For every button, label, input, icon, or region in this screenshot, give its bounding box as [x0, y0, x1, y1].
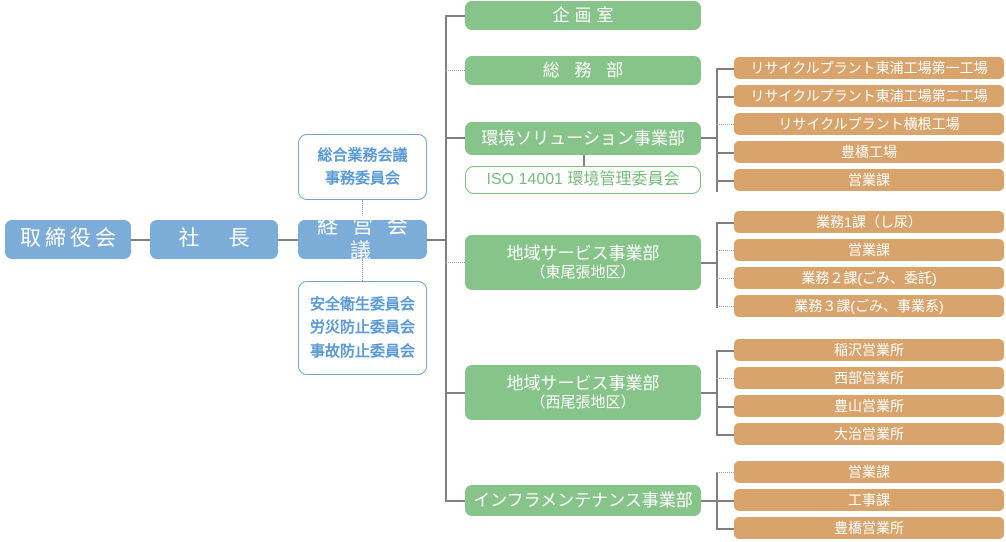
- node-east-operations-1[interactable]: 業務1課（し尿）: [734, 211, 1004, 233]
- node-environment-solution-label: 環境ソリューション事業部: [481, 129, 685, 149]
- node-board-label: 取締役会: [16, 227, 120, 251]
- org-chart: 取締役会 社 長 経 営 会 議 総合業務会議 事務委員会 安全衛生委員会 労災…: [0, 0, 1006, 542]
- node-infra-sales-section[interactable]: 営業課: [734, 461, 1004, 483]
- leaf-label: リサイクルプラント東浦工場第二工場: [750, 88, 987, 104]
- connector-west-subtrunk: [701, 392, 716, 394]
- node-regional-service-west-label: 地域サービス事業部: [507, 374, 660, 394]
- node-east-operations-3[interactable]: 業務３課(ごみ、事業系): [734, 295, 1004, 317]
- committee-group-upper[interactable]: 総合業務会議 事務委員会: [298, 134, 427, 200]
- node-regional-service-east-sublabel: （東尾張地区）: [530, 264, 635, 281]
- branch-planning: [445, 15, 465, 17]
- subtrunk-env: [716, 68, 718, 192]
- leaf-label: 豊山営業所: [834, 398, 904, 414]
- trunk-vertical-divisions: [445, 15, 447, 500]
- leaf-branch-env-2: [716, 96, 734, 98]
- node-toyohashi-plant[interactable]: 豊橋工場: [734, 141, 1004, 163]
- node-recycle-higashiura-plant-1[interactable]: リサイクルプラント東浦工場第一工場: [734, 57, 1004, 79]
- leaf-label: 大治営業所: [834, 426, 904, 442]
- leaf-branch-west-2: [716, 378, 734, 379]
- leaf-branch-west-1: [716, 350, 734, 352]
- node-infra-maintenance-label: インフラメンテナンス事業部: [473, 491, 693, 511]
- leaf-label: 営業課: [848, 172, 890, 188]
- node-management-meeting-label: 経 営 会 議: [298, 215, 427, 263]
- subtrunk-east: [716, 222, 718, 308]
- node-regional-service-east[interactable]: 地域サービス事業部 （東尾張地区）: [465, 235, 701, 290]
- leaf-branch-infra-1: [716, 472, 734, 473]
- node-regional-service-east-label: 地域サービス事業部: [507, 244, 660, 264]
- committee-lower-line-1: 安全衛生委員会: [310, 293, 415, 316]
- leaf-label: 稲沢営業所: [834, 342, 904, 358]
- leaf-branch-east-1: [716, 222, 734, 224]
- leaf-label: 業務２課(ごみ、委託): [801, 270, 936, 286]
- node-seibu-office[interactable]: 西部営業所: [734, 367, 1004, 389]
- committee-group-lower[interactable]: 安全衛生委員会 労災防止委員会 事故防止委員会: [298, 281, 427, 375]
- connector-management-trunk: [427, 239, 446, 241]
- leaf-branch-env-3: [716, 124, 734, 125]
- node-east-operations-2[interactable]: 業務２課(ごみ、委託): [734, 267, 1004, 289]
- committee-lower-line-2: 労災防止委員会: [310, 316, 415, 339]
- leaf-label: 営業課: [848, 242, 890, 258]
- leaf-branch-infra-2: [716, 500, 734, 502]
- node-oharu-office[interactable]: 大治営業所: [734, 423, 1004, 445]
- connector-board-president: [130, 239, 150, 241]
- node-planning-office[interactable]: 企画室: [465, 1, 701, 30]
- node-toyoyama-office[interactable]: 豊山営業所: [734, 395, 1004, 417]
- node-president-label: 社 長: [175, 227, 254, 251]
- leaf-label: 西部営業所: [834, 370, 904, 386]
- leaf-branch-east-2: [716, 250, 734, 251]
- leaf-label: 営業課: [848, 464, 890, 480]
- leaf-branch-east-4: [716, 306, 734, 307]
- node-regional-service-west-sublabel: （西尾張地区）: [530, 394, 635, 411]
- branch-infra-maintenance: [445, 500, 465, 502]
- node-recycle-higashiura-plant-2[interactable]: リサイクルプラント東浦工場第二工場: [734, 85, 1004, 107]
- leaf-label: 工事課: [848, 492, 890, 508]
- leaf-branch-env-1: [716, 68, 734, 70]
- node-environment-solution[interactable]: 環境ソリューション事業部: [465, 122, 701, 155]
- connector-east-subtrunk: [701, 262, 716, 264]
- node-iso-14001-committee-label: ISO 14001 環境管理委員会: [487, 171, 680, 189]
- connector-president-management: [278, 239, 298, 241]
- leaf-label: リサイクルプラント東浦工場第一工場: [750, 60, 987, 76]
- node-inazawa-office[interactable]: 稲沢営業所: [734, 339, 1004, 361]
- connector-infra-subtrunk: [701, 500, 716, 502]
- leaf-label: 業務1課（し尿）: [816, 214, 922, 230]
- connector-env-iso: [583, 155, 585, 166]
- connector-env-subtrunk: [701, 137, 716, 139]
- committee-upper-line-2: 事務委員会: [325, 167, 400, 190]
- leaf-label: リサイクルプラント横根工場: [778, 116, 959, 132]
- node-iso-14001-committee[interactable]: ISO 14001 環境管理委員会: [465, 166, 701, 194]
- node-construction-section[interactable]: 工事課: [734, 489, 1004, 511]
- node-env-sales-section[interactable]: 営業課: [734, 169, 1004, 191]
- node-board-of-directors[interactable]: 取締役会: [5, 220, 131, 259]
- leaf-label: 豊橋工場: [841, 144, 897, 160]
- leaf-branch-env-5: [716, 180, 734, 182]
- node-recycle-yokone-plant[interactable]: リサイクルプラント横根工場: [734, 113, 1004, 135]
- branch-general-affairs: [445, 70, 465, 71]
- leaf-branch-west-3: [716, 406, 734, 408]
- leaf-branch-env-4: [716, 152, 734, 154]
- branch-environment-solution: [445, 137, 465, 139]
- leaf-branch-infra-3: [716, 528, 734, 530]
- node-general-affairs-label: 総 務 部: [538, 61, 628, 81]
- committee-upper-line-1: 総合業務会議: [317, 144, 407, 167]
- node-infra-maintenance[interactable]: インフラメンテナンス事業部: [465, 485, 701, 516]
- node-east-sales-section[interactable]: 営業課: [734, 239, 1004, 261]
- leaf-label: 業務３課(ごみ、事業系): [794, 298, 943, 314]
- branch-regional-west: [445, 392, 465, 394]
- leaf-branch-west-4: [716, 434, 734, 436]
- branch-regional-east: [445, 262, 465, 263]
- node-general-affairs[interactable]: 総 務 部: [465, 56, 701, 85]
- committee-lower-line-3: 事故防止委員会: [310, 340, 415, 363]
- leaf-branch-east-3: [716, 278, 734, 279]
- node-planning-office-label: 企画室: [548, 6, 619, 26]
- node-regional-service-west[interactable]: 地域サービス事業部 （西尾張地区）: [465, 365, 701, 420]
- subtrunk-west: [716, 350, 718, 436]
- node-president[interactable]: 社 長: [150, 220, 278, 259]
- node-management-meeting[interactable]: 経 営 会 議: [298, 220, 427, 259]
- node-toyohashi-office[interactable]: 豊橋営業所: [734, 517, 1004, 539]
- leaf-label: 豊橋営業所: [834, 520, 904, 536]
